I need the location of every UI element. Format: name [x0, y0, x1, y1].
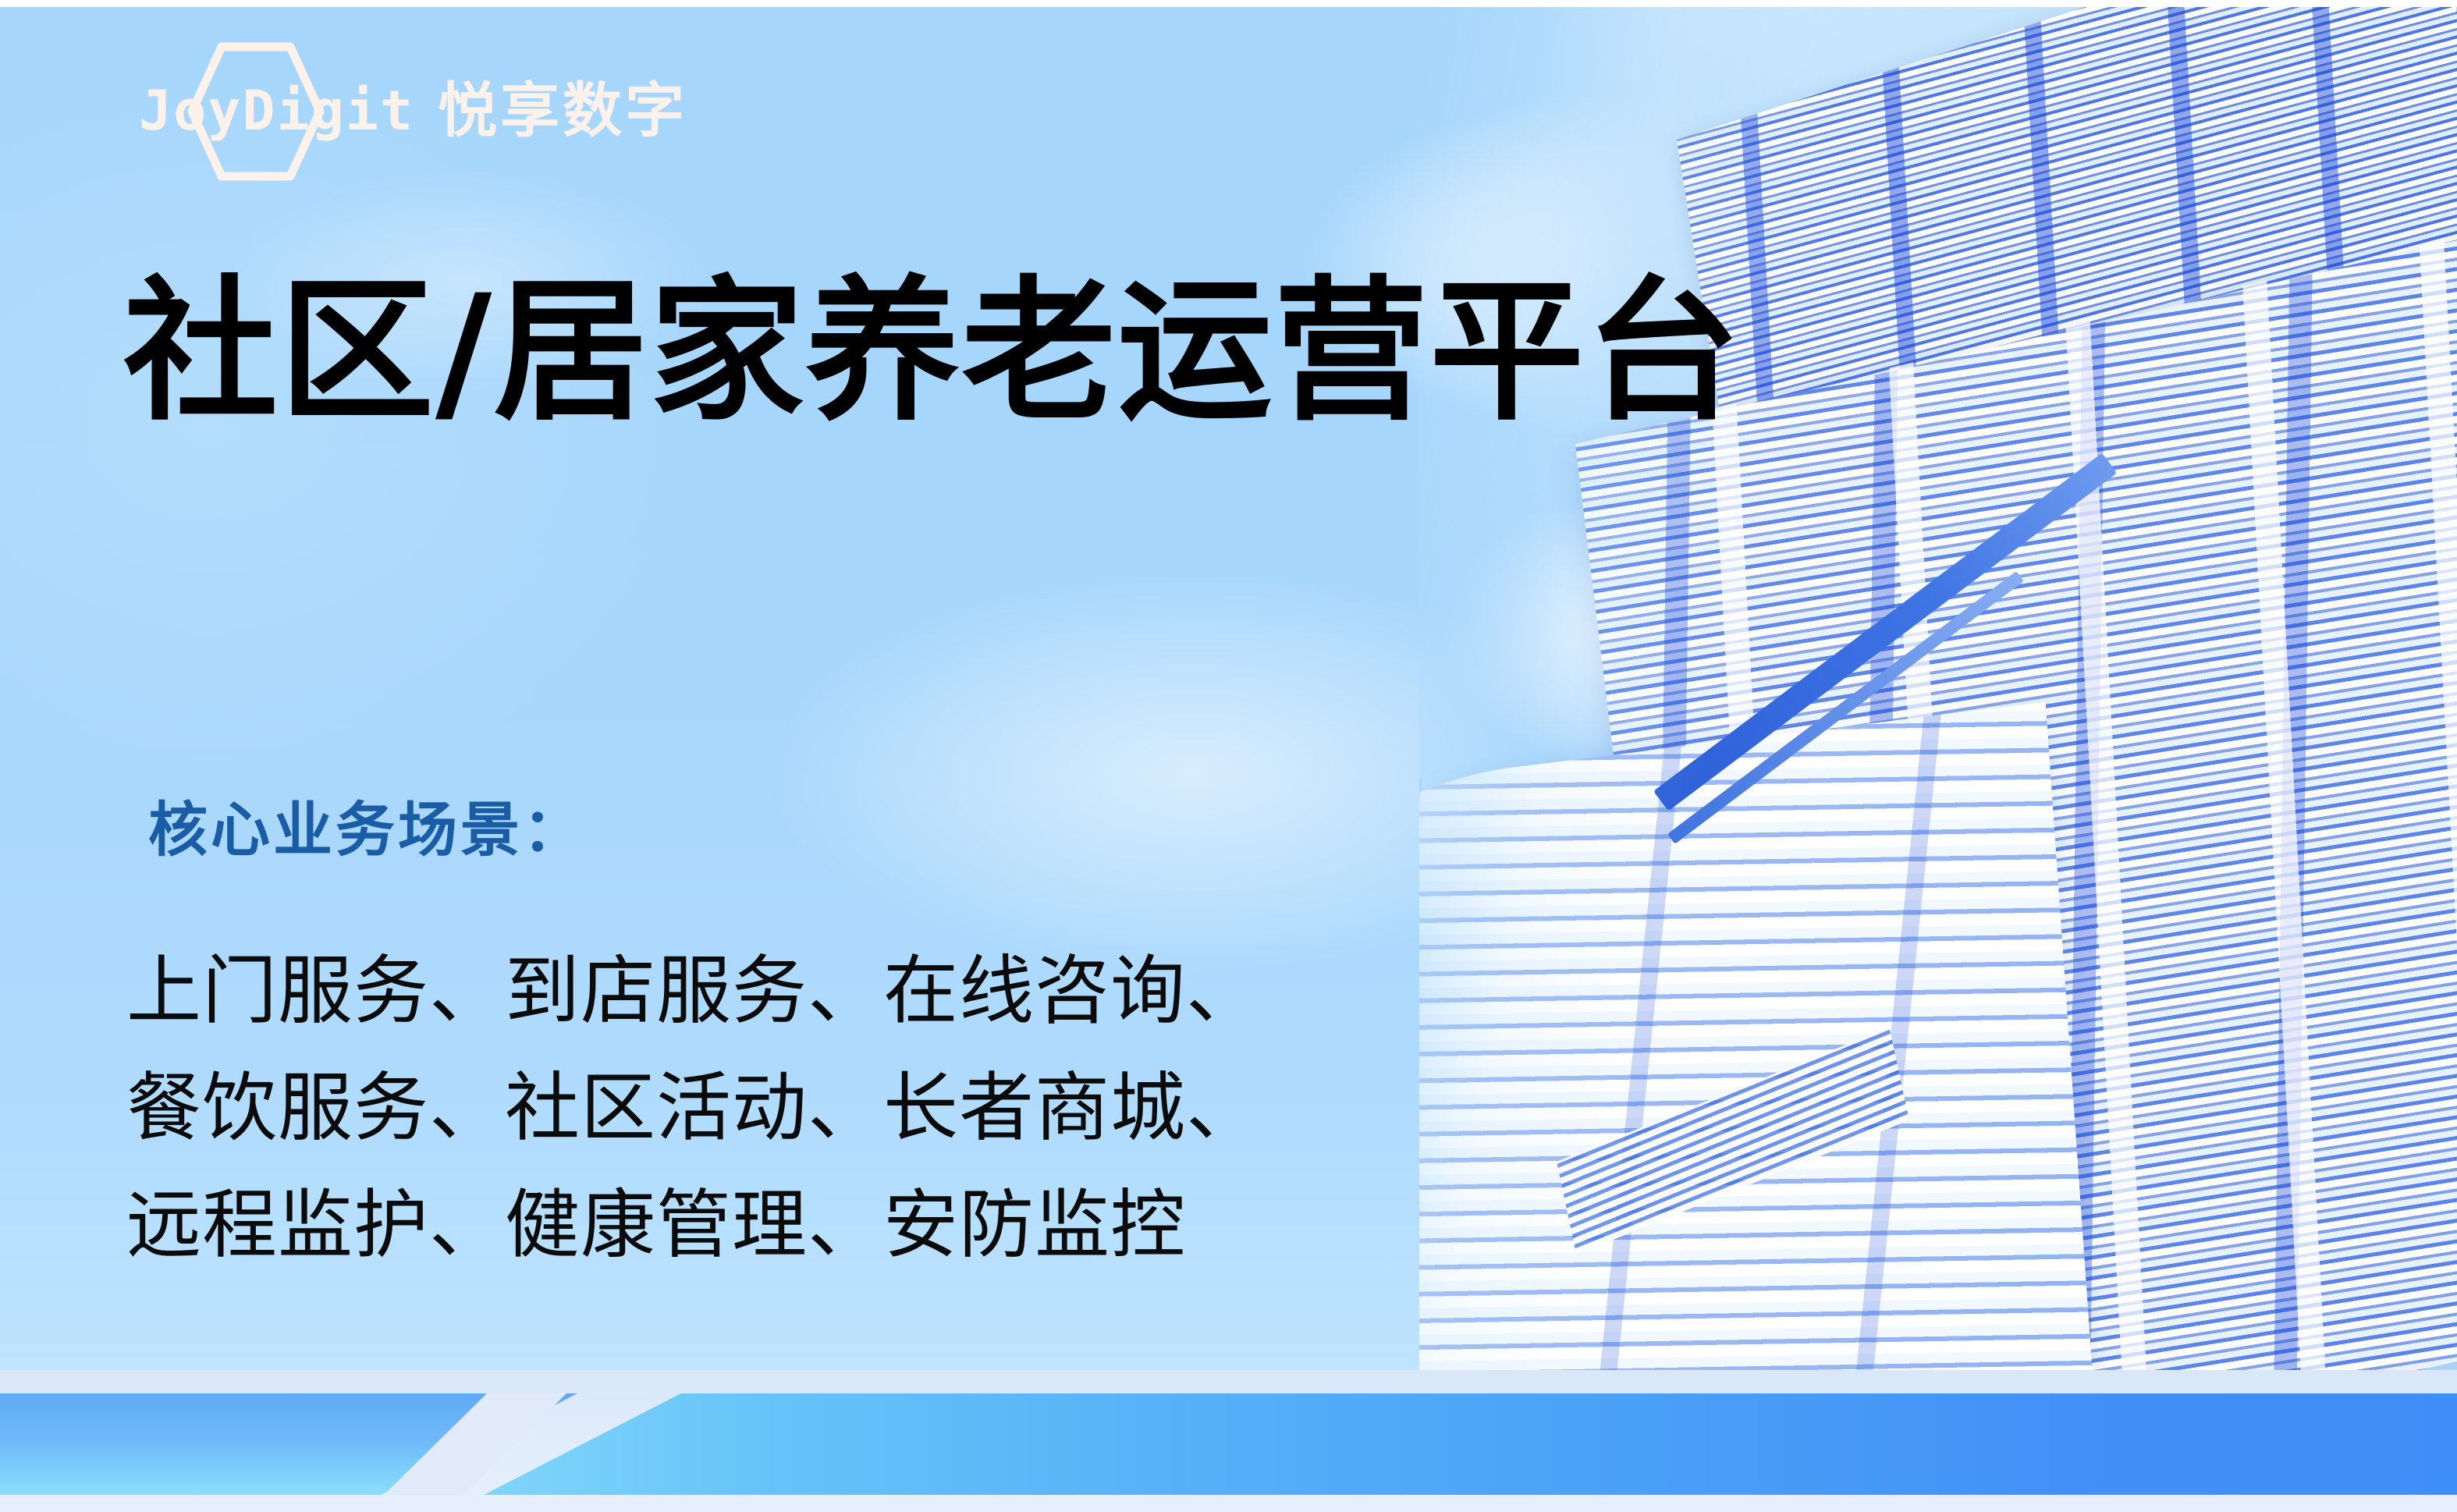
scenario-line: 餐饮服务、社区活动、长者商城、 — [126, 1050, 1262, 1167]
building-photo — [1419, 7, 2457, 1372]
section-subtitle: 核心业务场景： — [148, 782, 585, 868]
logo-chinese-name: 悦享数字 — [438, 81, 687, 140]
scenario-line: 远程监护、健康管理、安防监控 — [126, 1167, 1262, 1284]
top-edge-strip — [0, 0, 2457, 7]
slide-canvas: JoyDigit 悦享数字 社区/居家养老运营平台 核心业务场景： 上门服务、到… — [0, 0, 2457, 1512]
logo-wordmark: JoyDigit — [139, 83, 414, 138]
tower-front-facade — [1419, 702, 2095, 1372]
scenario-list: 上门服务、到店服务、在线咨询、 餐饮服务、社区活动、长者商城、 远程监护、健康管… — [126, 933, 1262, 1283]
scenario-line: 上门服务、到店服务、在线咨询、 — [126, 933, 1262, 1050]
footer-band-right — [484, 1393, 2457, 1495]
brand-logo[interactable]: JoyDigit 悦享数字 — [139, 69, 687, 153]
footer-decoration — [0, 1370, 2457, 1512]
page-title: 社区/居家养老运营平台 — [123, 265, 1742, 438]
tower-window-accents — [1419, 702, 2095, 1372]
